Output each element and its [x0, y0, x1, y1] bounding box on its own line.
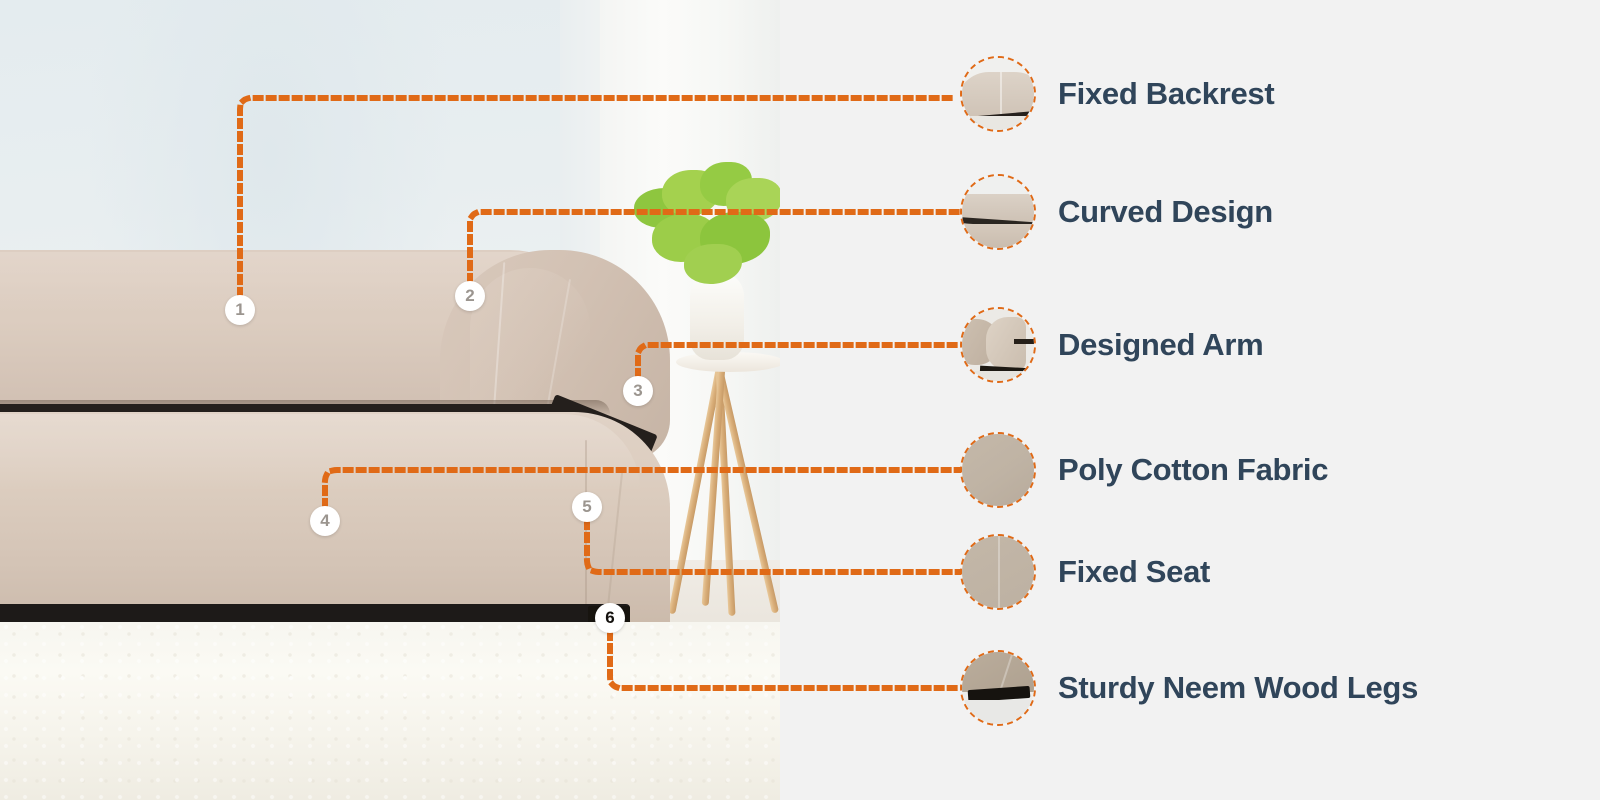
seat-thumb[interactable] [960, 534, 1036, 610]
feature-item-2[interactable]: Curved Design [960, 164, 1273, 260]
feature-item-4[interactable]: Poly Cotton Fabric [960, 422, 1328, 518]
sofa-plinth [0, 604, 630, 622]
thumbnail-image [962, 652, 1034, 724]
seat-seam [585, 440, 587, 620]
vase [690, 272, 744, 360]
fabric-thumb[interactable] [960, 432, 1036, 508]
thumbnail-image [962, 434, 1034, 506]
thumbnail-image [962, 309, 1034, 381]
feature-list-panel: Fixed BackrestCurved DesignDesigned ArmP… [780, 0, 1600, 800]
product-photo [0, 0, 780, 800]
feature-label: Curved Design [1058, 194, 1273, 230]
feature-item-5[interactable]: Fixed Seat [960, 524, 1210, 620]
photo-marker-5[interactable]: 5 [572, 492, 602, 522]
feature-label: Fixed Backrest [1058, 76, 1274, 112]
curve-thumb[interactable] [960, 174, 1036, 250]
photo-marker-6[interactable]: 6 [595, 603, 625, 633]
thumbnail-image [962, 58, 1034, 130]
feature-item-3[interactable]: Designed Arm [960, 297, 1263, 393]
backrest-thumb[interactable] [960, 56, 1036, 132]
arm-thumb[interactable] [960, 307, 1036, 383]
feature-label: Poly Cotton Fabric [1058, 452, 1328, 488]
photo-marker-3[interactable]: 3 [623, 376, 653, 406]
feature-item-1[interactable]: Fixed Backrest [960, 46, 1274, 142]
seat-highlight [0, 414, 640, 490]
feature-label: Designed Arm [1058, 327, 1263, 363]
photo-marker-2[interactable]: 2 [455, 281, 485, 311]
photo-marker-4[interactable]: 4 [310, 506, 340, 536]
rug-texture [0, 622, 780, 800]
legs-thumb[interactable] [960, 650, 1036, 726]
photo-marker-1[interactable]: 1 [225, 295, 255, 325]
feature-item-6[interactable]: Sturdy Neem Wood Legs [960, 640, 1418, 736]
thumbnail-image [962, 176, 1034, 248]
feature-label: Fixed Seat [1058, 554, 1210, 590]
feature-callout-infographic: 123456 Fixed BackrestCurved DesignDesign… [0, 0, 1600, 800]
thumbnail-image [962, 536, 1034, 608]
feature-label: Sturdy Neem Wood Legs [1058, 670, 1418, 706]
